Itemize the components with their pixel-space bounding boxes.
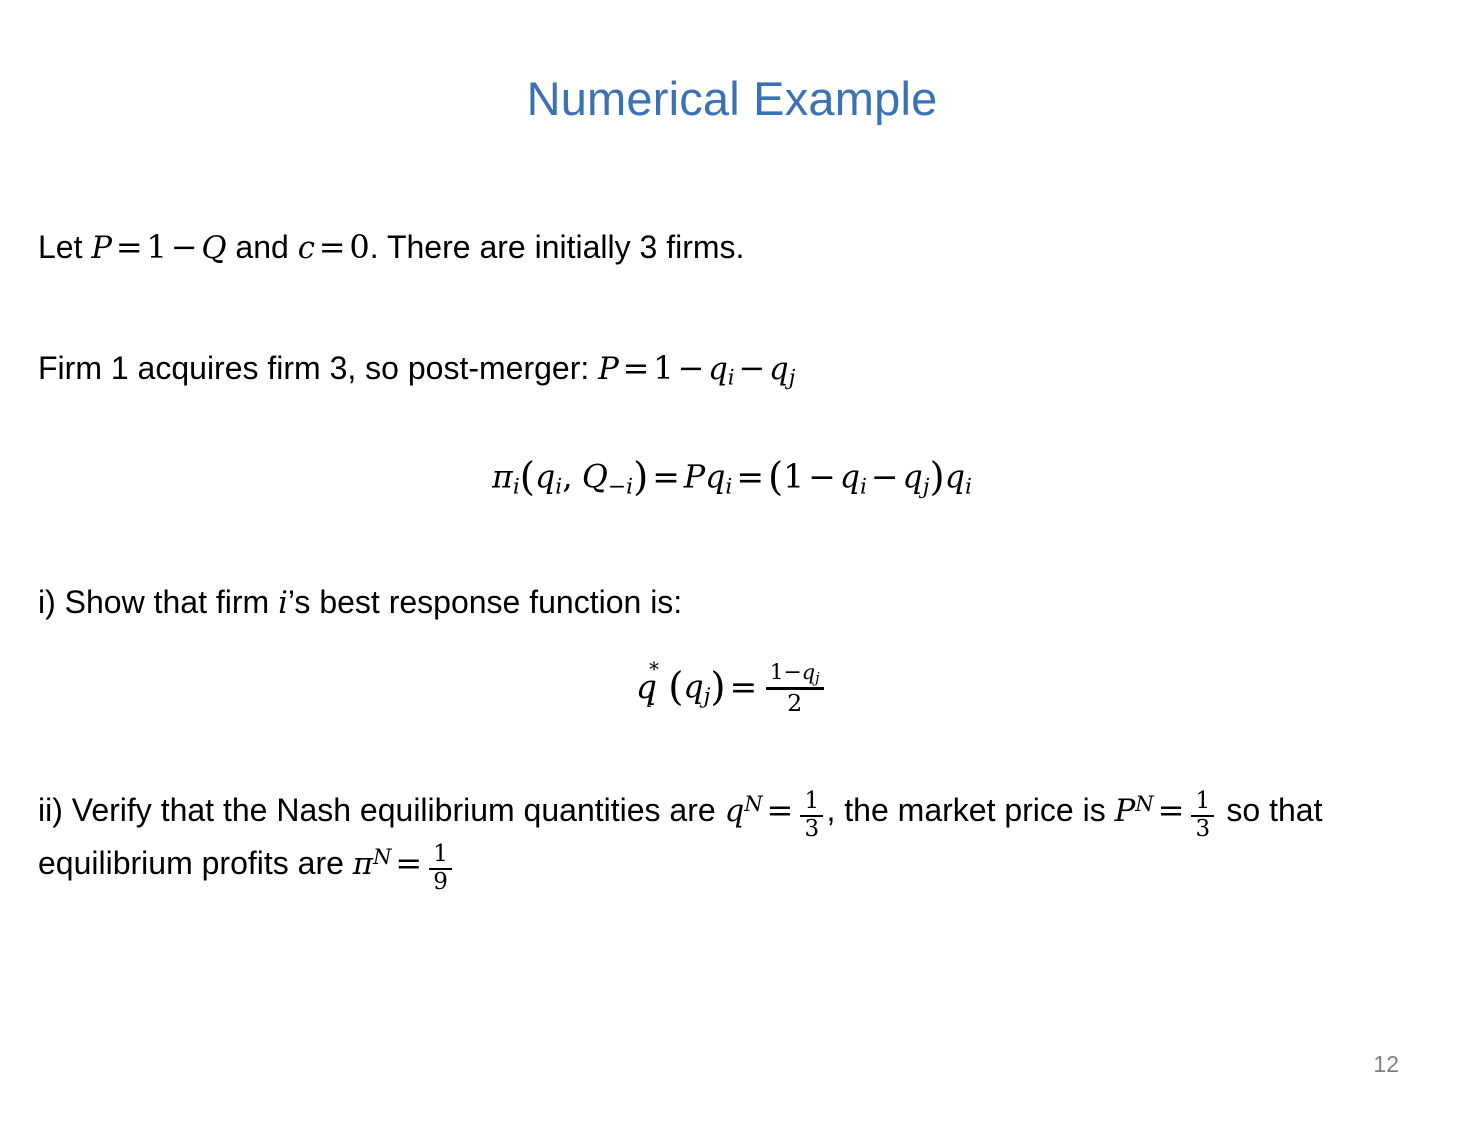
paren-open: ( <box>668 665 683 710</box>
subscript-j: j <box>815 671 819 687</box>
fraction-denominator: 3 <box>1191 818 1214 842</box>
var-P: P <box>684 460 705 496</box>
op-minus-2: − <box>735 349 769 387</box>
var-i: i <box>278 585 288 621</box>
subscript-i: i <box>728 364 735 389</box>
op-equals-2: = <box>1154 791 1188 829</box>
var-q: q <box>535 460 555 496</box>
paren-close: ) <box>633 455 648 500</box>
num-one: 1 <box>147 228 167 266</box>
fraction-numerator: 1 <box>1191 790 1214 814</box>
fraction-one-ninth-profit: 1 9 <box>429 843 452 894</box>
text-and: and <box>227 229 298 265</box>
superscript-N: N <box>373 844 391 869</box>
op-equals-1: = <box>648 457 684 496</box>
num-one: 1 <box>783 457 804 496</box>
text-let: Let <box>38 229 91 265</box>
statement-setup: Let P=1−Q and c=0. There are initially 3… <box>38 226 744 269</box>
var-P: P <box>91 230 112 266</box>
op-equals: = <box>726 667 762 706</box>
fraction-best-response: 1−qj 2 <box>766 662 824 716</box>
paren-close-2: ) <box>930 455 945 500</box>
fraction-numerator: 1 <box>429 843 452 867</box>
paren-open-2: ( <box>768 455 783 500</box>
text-show-that: i) Show that firm <box>38 584 278 620</box>
op-equals-2: = <box>315 228 349 266</box>
statement-merger: Firm 1 acquires firm 3, so post-merger: … <box>38 347 795 392</box>
subscript-i: i <box>965 474 972 499</box>
var-Q: Q <box>582 460 608 496</box>
equation-profit-function: πi(qi, Q−i)=Pqi=(1−qi−qj)qi <box>0 455 1464 500</box>
superscript-N: N <box>744 791 762 816</box>
op-equals-3: = <box>391 844 425 882</box>
subscript-j: j <box>789 364 796 389</box>
op-minus-1: − <box>804 457 840 496</box>
fraction-denominator: 3 <box>800 818 823 842</box>
text-verify: ii) Verify that the Nash equilibrium qua… <box>38 792 725 828</box>
var-q: q <box>945 460 965 496</box>
equation-best-response: q∗i(qj)= 1−qj 2 <box>0 662 1464 716</box>
fraction-denominator: 9 <box>429 871 452 895</box>
var-q: q <box>705 460 725 496</box>
var-c: c <box>298 230 315 266</box>
op-equals-1: = <box>112 228 146 266</box>
op-equals: = <box>619 349 653 387</box>
slide-canvas: Numerical Example Let P=1−Q and c=0. The… <box>0 0 1464 1124</box>
text-market-price: , the market price is <box>827 792 1115 828</box>
subscript-i: i <box>646 688 653 712</box>
var-q-i: q <box>708 351 728 387</box>
superscript-N: N <box>1135 791 1153 816</box>
paren-open: ( <box>520 455 535 500</box>
num-one: 1 <box>770 660 784 685</box>
var-pi: π <box>492 460 513 496</box>
op-equals-1: = <box>763 791 797 829</box>
subscript-j: j <box>923 474 930 499</box>
var-q-star-i: q∗i <box>636 667 657 706</box>
question-item-ii: ii) Verify that the Nash equilibrium qua… <box>38 788 1438 894</box>
var-q: q <box>683 670 703 706</box>
fraction-numerator: 1−qj <box>766 662 824 686</box>
text-merger: Firm 1 acquires firm 3, so post-merger: <box>38 350 598 386</box>
var-P: P <box>1115 793 1136 829</box>
op-minus: − <box>784 660 802 685</box>
page-number: 12 <box>1373 1051 1399 1078</box>
var-P: P <box>598 351 619 387</box>
text-best-response: ’s best response function is: <box>288 584 682 620</box>
op-minus: − <box>167 228 201 266</box>
num-one: 1 <box>653 349 673 387</box>
subscript-minus-i: −i <box>608 474 633 499</box>
fraction-numerator: 1 <box>800 790 823 814</box>
fraction-one-third-quantity: 1 3 <box>800 790 823 841</box>
question-item-i: i) Show that firm i’s best response func… <box>38 581 682 624</box>
op-equals-2: = <box>732 457 768 496</box>
var-q-j: q <box>769 351 789 387</box>
var-q: q <box>802 660 815 684</box>
page-title: Numerical Example <box>0 72 1464 126</box>
fraction-one-third-price: 1 3 <box>1191 790 1214 841</box>
var-q: q <box>840 460 860 496</box>
var-Q: Q <box>201 230 226 266</box>
paren-close: ) <box>710 665 725 710</box>
op-minus-2: − <box>867 457 903 496</box>
op-minus-1: − <box>674 349 708 387</box>
text-firms: . There are initially 3 firms. <box>370 229 745 265</box>
var-q: q <box>725 793 745 829</box>
comma: , <box>562 457 573 496</box>
subscript-i: i <box>513 474 520 499</box>
fraction-denominator: 2 <box>766 691 824 715</box>
num-zero: 0 <box>349 228 369 266</box>
subscript-i: i <box>860 474 867 499</box>
var-pi: π <box>353 846 373 882</box>
superscript-star: ∗ <box>647 654 660 677</box>
var-q: q <box>903 460 923 496</box>
